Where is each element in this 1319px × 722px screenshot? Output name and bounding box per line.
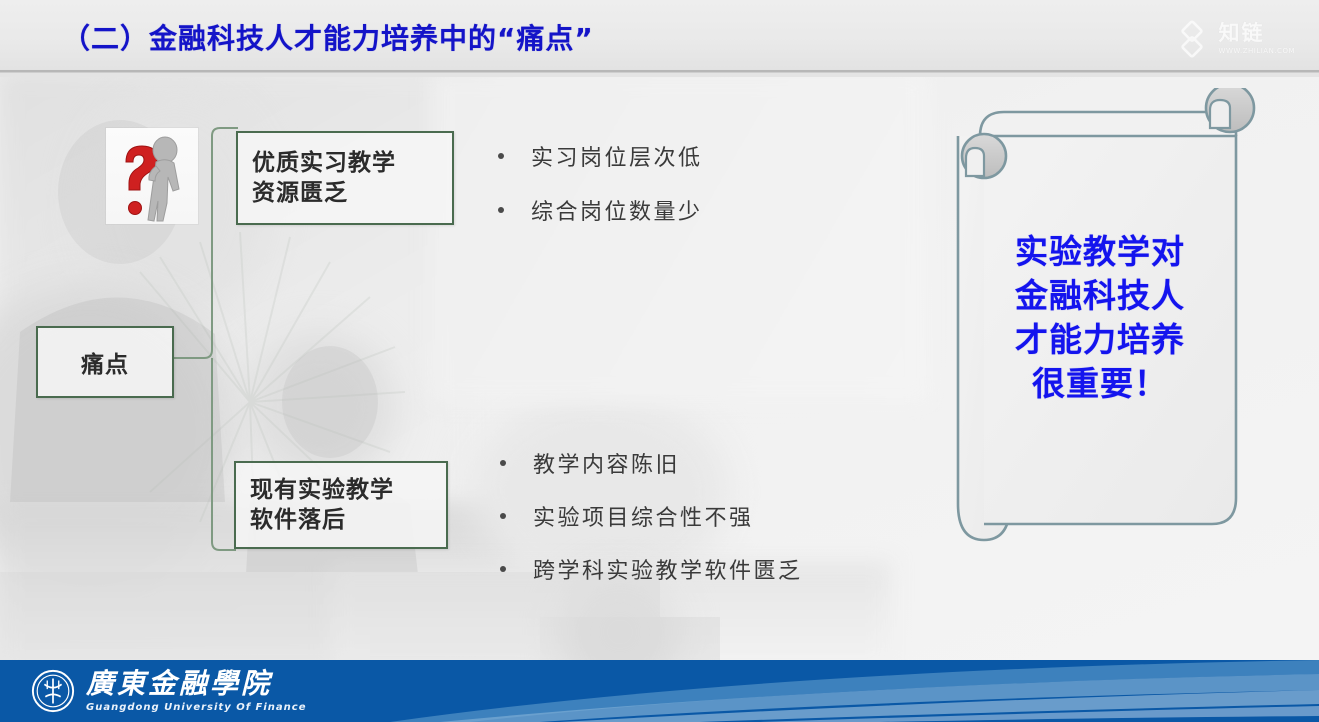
flowchart-branch-node-2[interactable]: 现有实验教学 软件落后	[234, 461, 448, 549]
flowchart-root-node[interactable]: 痛点	[36, 326, 174, 398]
bullet-dot-icon	[500, 460, 506, 466]
bullet-text: 教学内容陈旧	[533, 447, 680, 479]
university-seal-icon	[30, 668, 76, 714]
branch-2-label-line-1: 现有实验教学	[250, 475, 394, 505]
scroll-line-1: 实验教学对	[940, 230, 1260, 274]
bullet-dot-icon	[498, 153, 504, 159]
list-item: 跨学科实验教学软件匮乏	[500, 553, 803, 585]
list-item: 实习岗位层次低	[498, 140, 703, 172]
branch-1-label-line-1: 优质实习教学	[252, 148, 396, 178]
university-logo: 廣東金融學院 Guangdong University Of Finance	[30, 668, 307, 714]
bullet-text: 实习岗位层次低	[531, 140, 703, 172]
brand-name-cn: 知链	[1219, 23, 1265, 44]
branch-1-bullet-list: 实习岗位层次低 综合岗位数量少	[498, 140, 703, 248]
branch-2-label-line-2: 软件落后	[250, 505, 394, 535]
branch-1-label-line-2: 资源匮乏	[252, 178, 396, 208]
bullet-dot-icon	[498, 207, 504, 213]
flowchart-root-label: 痛点	[81, 345, 129, 379]
university-name-cn: 廣東金融學院	[86, 670, 307, 698]
bullet-text: 实验项目综合性不强	[533, 500, 754, 532]
chain-link-diamond-icon	[1173, 20, 1211, 58]
scroll-message: 实验教学对 金融科技人 才能力培养 很重要！	[940, 230, 1260, 406]
bullet-text: 跨学科实验教学软件匮乏	[533, 553, 803, 585]
bullet-text: 综合岗位数量少	[531, 194, 703, 226]
bullet-dot-icon	[500, 513, 506, 519]
page-title: （二）金融科技人才能力培养中的“痛点”	[62, 17, 594, 57]
scroll-line-4: 很重要！	[940, 362, 1260, 406]
scroll-line-3: 才能力培养	[940, 318, 1260, 362]
brand-logo: 知链 WWW.ZHILIAN.COM	[1173, 20, 1295, 58]
list-item: 综合岗位数量少	[498, 194, 703, 226]
list-item: 实验项目综合性不强	[500, 500, 803, 532]
branch-2-bullet-list: 教学内容陈旧 实验项目综合性不强 跨学科实验教学软件匮乏	[500, 447, 803, 606]
brand-name-en: WWW.ZHILIAN.COM	[1219, 47, 1295, 55]
scroll-line-2: 金融科技人	[940, 274, 1260, 318]
scroll-callout: 实验教学对 金融科技人 才能力培养 很重要！	[940, 88, 1260, 558]
flowchart-branch-node-1[interactable]: 优质实习教学 资源匮乏	[236, 131, 454, 225]
header-divider-shadow	[0, 73, 1319, 77]
university-name-en: Guangdong University Of Finance	[86, 702, 307, 713]
presentation-slide: （二）金融科技人才能力培养中的“痛点” 知链 WWW.ZHILIAN.COM	[0, 0, 1319, 722]
slide-footer: 廣東金融學院 Guangdong University Of Finance	[0, 660, 1319, 722]
bullet-dot-icon	[500, 566, 506, 572]
list-item: 教学内容陈旧	[500, 447, 803, 479]
